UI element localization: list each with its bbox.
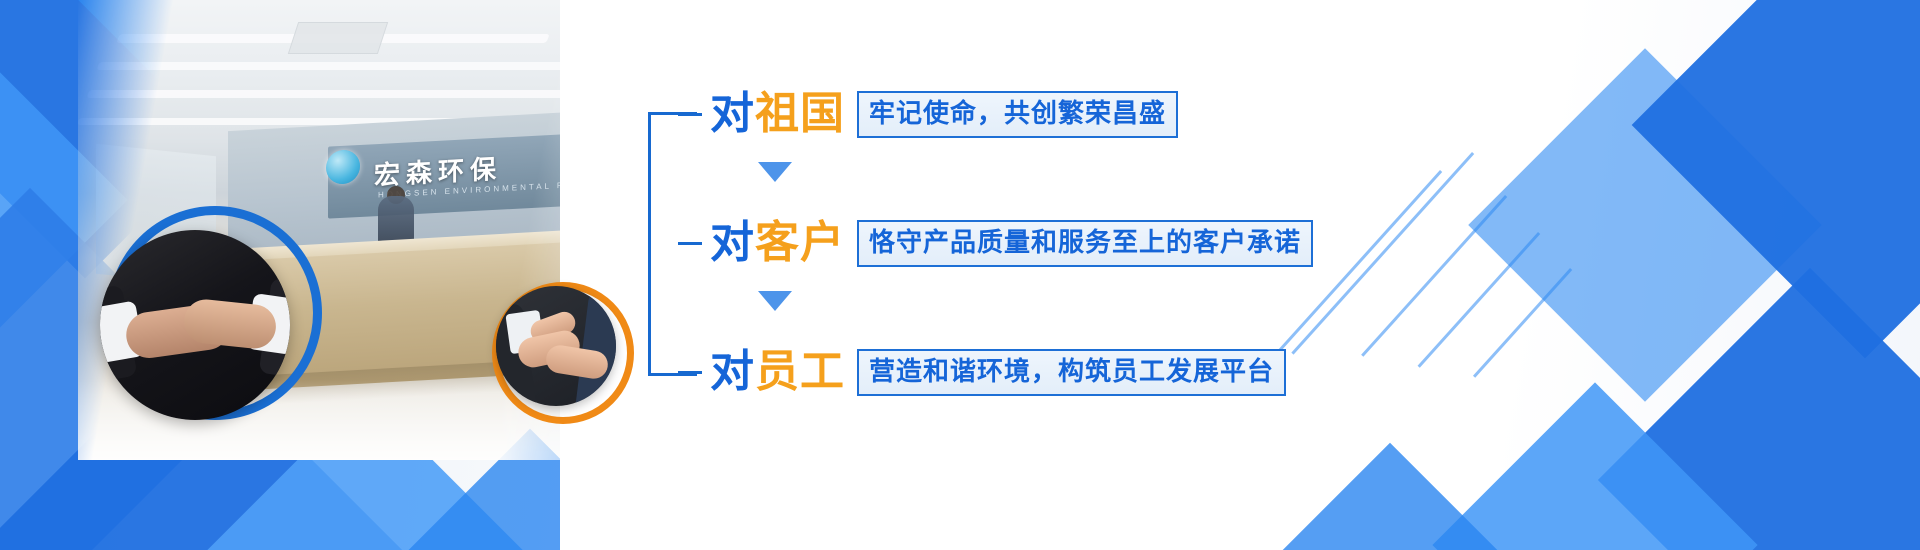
value-target: 客户 [755,217,845,268]
applause-photo [496,286,616,406]
values-list: 对祖国 牢记使命，共创繁荣昌盛 对客户 恪守产品质量和服务至上的客户承诺 对员工… [648,70,1408,400]
value-row-country: 对祖国 牢记使命，共创繁荣昌盛 [678,86,1178,142]
value-prefix: 对 [710,346,755,397]
ceiling-line [97,62,570,70]
ceiling-line [87,90,590,98]
company-values-banner: 宏森环保 HONGSEN ENVIRONMENTAL PROTECTION [0,0,1920,550]
value-prefix: 对 [710,88,755,139]
value-heading-customer: 对客户 [710,221,845,265]
triangle-down-icon [758,162,792,182]
decor-stroke [1418,232,1541,368]
value-row-customer: 对客户 恪守产品质量和服务至上的客户承诺 [678,215,1313,271]
value-target: 员工 [755,346,845,397]
handshake-photo [100,230,290,420]
row-tick [678,113,702,116]
decor-shape-right-2 [1468,48,1822,402]
row-tick [678,242,702,245]
value-heading-employee: 对员工 [710,350,845,394]
row-tick [678,371,702,374]
value-target: 祖国 [755,88,845,139]
decor-shape-right-1 [1632,0,1920,358]
decor-shape-right-3 [1598,268,1920,550]
decor-stroke [1473,268,1572,378]
decor-shape-right-4 [1432,382,1757,550]
value-statement-employee: 营造和谐环境，构筑员工发展平台 [857,349,1286,396]
value-row-employee: 对员工 营造和谐环境，构筑员工发展平台 [678,344,1286,400]
value-heading-country: 对祖国 [710,92,845,136]
ceiling-vent [288,22,388,54]
value-statement-country: 牢记使命，共创繁荣昌盛 [857,91,1178,138]
value-statement-customer: 恪守产品质量和服务至上的客户承诺 [857,220,1313,267]
value-prefix: 对 [710,217,755,268]
triangle-down-icon [758,291,792,311]
